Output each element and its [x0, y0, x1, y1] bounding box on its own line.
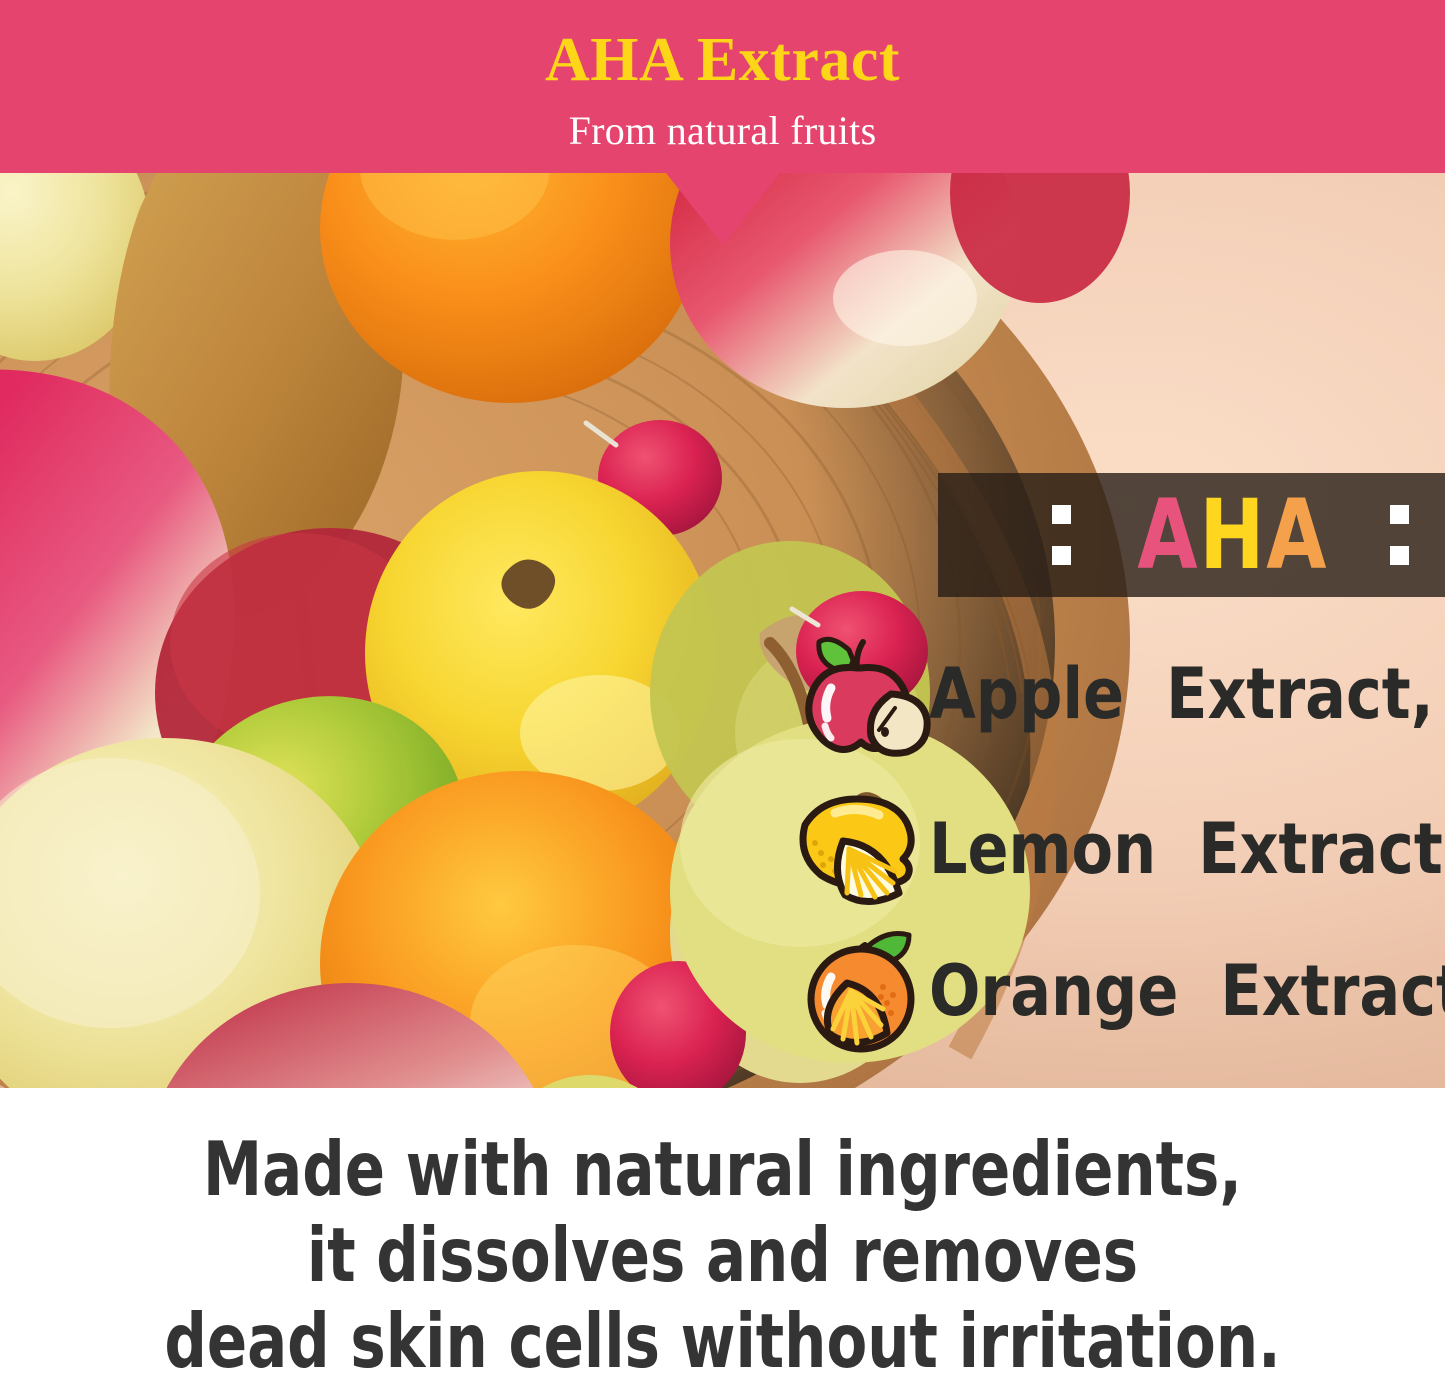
- aha-letter-h: H: [1199, 487, 1266, 583]
- apple-icon: [795, 628, 935, 760]
- page-subtitle: From natural fruits: [0, 107, 1445, 155]
- lemon-icon: [795, 783, 935, 915]
- ingredient-list: Apple Extract, Lemon: [795, 628, 1445, 1078]
- aha-badge-letters: AHA: [1087, 487, 1375, 583]
- caption-line-3: dead skin cells without irritation.: [87, 1298, 1359, 1384]
- aha-letter-a2: A: [1266, 487, 1328, 583]
- banner-arrow-notch: [666, 173, 780, 245]
- caption-line-2: it dissolves and removes: [87, 1212, 1359, 1298]
- ingredient-row-apple: Apple Extract,: [795, 628, 1445, 760]
- right-colon-dots-icon: [1390, 498, 1409, 572]
- header-banner: AHA Extract From natural fruits: [0, 0, 1445, 173]
- aha-badge-bar: AHA: [938, 473, 1445, 597]
- aha-letter-a1: A: [1137, 487, 1199, 583]
- aha-badge-inner: AHA: [938, 473, 1445, 597]
- left-colon-dots-icon: [1052, 498, 1071, 572]
- page-title: AHA Extract: [0, 24, 1445, 96]
- caption-block: Made with natural ingredients, it dissol…: [0, 1088, 1445, 1395]
- ingredient-row-lemon: Lemon Extract,: [795, 783, 1445, 915]
- ingredient-row-orange: Orange Extract: [795, 925, 1445, 1057]
- orange-icon: [795, 925, 935, 1057]
- ingredient-label-orange: Orange Extract: [929, 951, 1445, 1031]
- ingredient-label-lemon: Lemon Extract,: [929, 809, 1445, 889]
- ingredient-label-apple: Apple Extract,: [929, 654, 1434, 734]
- caption-line-1: Made with natural ingredients,: [87, 1126, 1359, 1212]
